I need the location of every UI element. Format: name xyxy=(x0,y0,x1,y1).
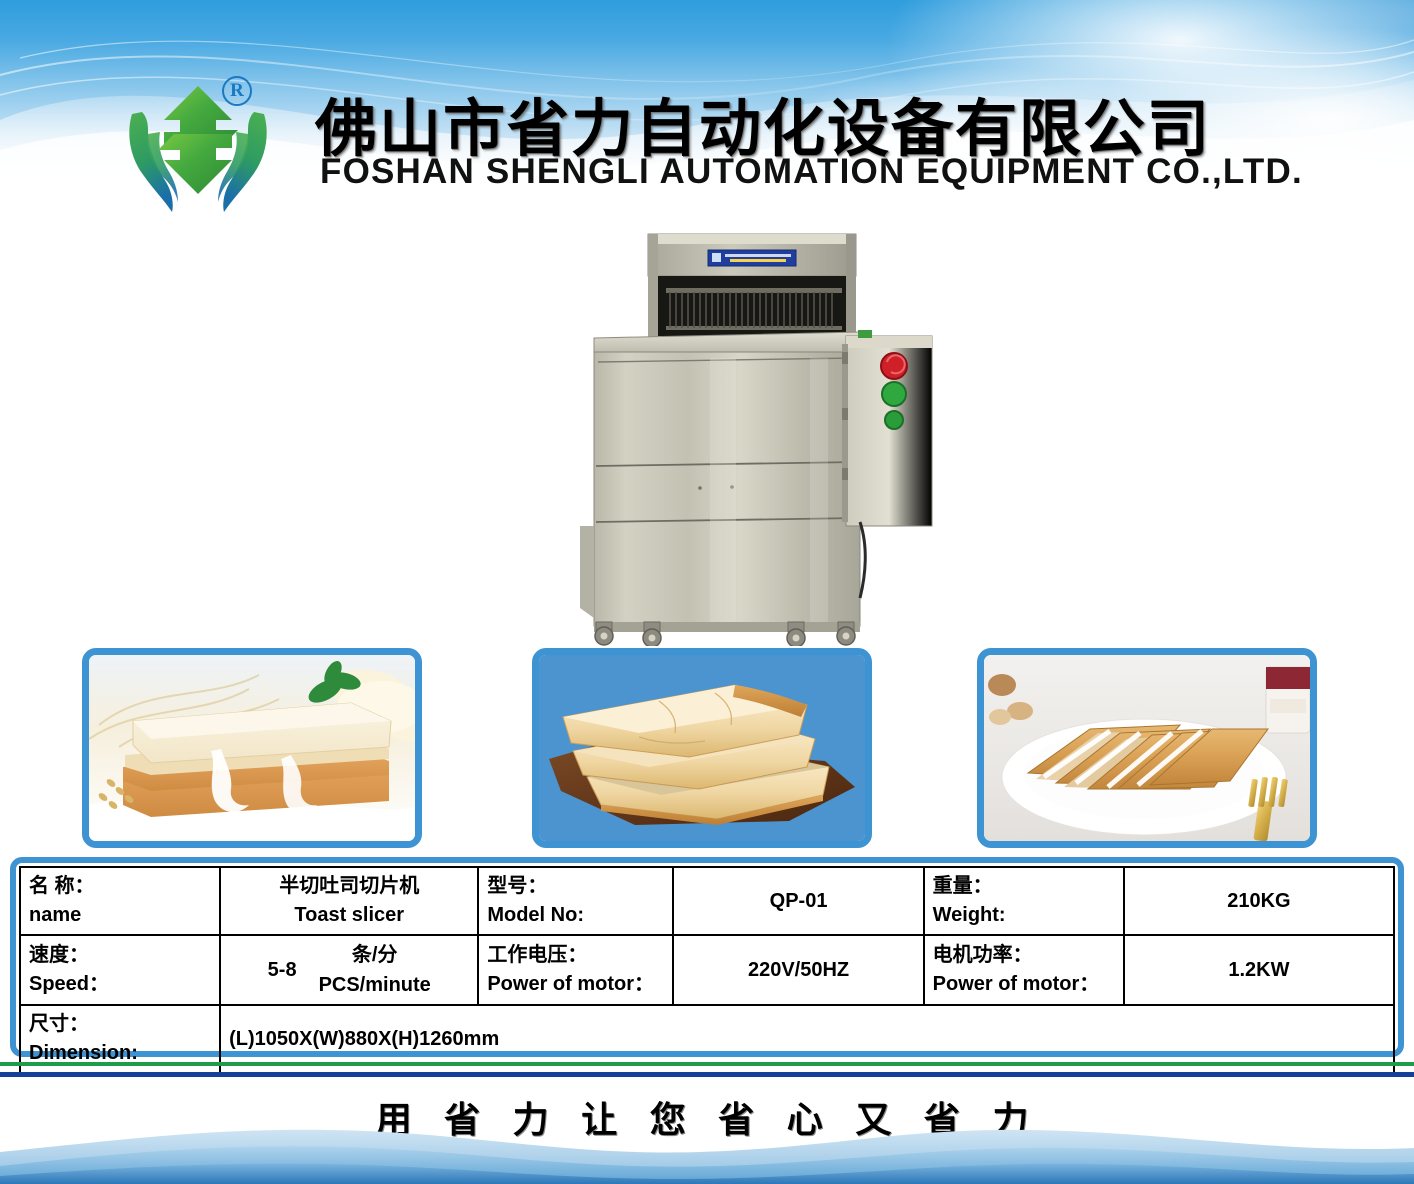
weight-label-cn: 重量： xyxy=(933,872,1115,901)
weight-label-en: Weight: xyxy=(933,901,1115,930)
registered-trademark-icon: R xyxy=(222,76,252,106)
cell-voltage-label: 工作电压： Power of motor： xyxy=(478,935,673,1005)
speed-unit-en: PCS/minute xyxy=(319,970,431,1000)
page-header: R 佛山市省力自动化设备有限公司 FOSHAN SHENGLI AUTOMATI… xyxy=(0,0,1414,222)
model-label-en: Model No: xyxy=(487,901,664,930)
product-machine-photo xyxy=(560,226,960,646)
cell-power-value: 1.2KW xyxy=(1124,935,1394,1005)
speed-unit-cn: 条/分 xyxy=(319,940,431,970)
product-gallery xyxy=(0,648,1414,848)
speed-number: 5-8 xyxy=(268,959,297,982)
footer-rule-green xyxy=(0,1062,1414,1066)
name-value-en: Toast slicer xyxy=(229,901,469,930)
table-row: 速度： Speed： 5-8 条/分 PCS/minute 工作电压： Powe… xyxy=(20,935,1394,1005)
emergency-stop-button xyxy=(881,353,907,379)
power-label-cn: 电机功率： xyxy=(933,941,1115,970)
specification-table: 名 称： name 半切吐司切片机 Toast slicer 型号： Model… xyxy=(10,857,1404,1057)
toast-stack-with-mint-image xyxy=(89,655,415,841)
cell-voltage-value: 220V/50HZ xyxy=(673,935,923,1005)
company-name-en: FOSHAN SHENGLI AUTOMATION EQUIPMENT CO.,… xyxy=(320,152,1303,192)
name-label-en: name xyxy=(29,901,211,930)
footer-wave-decoration xyxy=(0,1122,1414,1184)
start-button xyxy=(882,382,906,406)
voltage-label-cn: 工作电压： xyxy=(487,941,664,970)
dimension-label-cn: 尺寸： xyxy=(29,1010,211,1039)
power-label-en: Power of motor： xyxy=(933,970,1115,999)
cell-power-label: 电机功率： Power of motor： xyxy=(924,935,1124,1005)
cell-weight-label: 重量： Weight: xyxy=(924,867,1124,935)
model-label-cn: 型号： xyxy=(487,872,664,901)
gallery-photo-3 xyxy=(977,648,1317,848)
cell-model-value: QP-01 xyxy=(673,867,923,935)
cell-weight-value: 210KG xyxy=(1124,867,1394,935)
table-row: 名 称： name 半切吐司切片机 Toast slicer 型号： Model… xyxy=(20,867,1394,935)
name-value-cn: 半切吐司切片机 xyxy=(229,872,469,901)
gallery-photo-2 xyxy=(532,648,872,848)
page-footer: 用 省 力 让 您 省 心 又 省 力 xyxy=(0,1077,1414,1184)
toast-slicer-illustration xyxy=(560,226,960,646)
shengli-hands-s-logo xyxy=(118,72,278,222)
cell-name-label: 名 称： name xyxy=(20,867,220,935)
speed-label-en: Speed： xyxy=(29,970,211,999)
cell-name-value: 半切吐司切片机 Toast slicer xyxy=(220,867,478,935)
speed-label-cn: 速度： xyxy=(29,941,211,970)
cell-speed-value: 5-8 条/分 PCS/minute xyxy=(220,935,478,1005)
toast-on-board-image xyxy=(539,655,865,841)
name-label-cn: 名 称： xyxy=(29,872,211,901)
cell-model-label: 型号： Model No: xyxy=(478,867,673,935)
toast-on-plate-image xyxy=(984,655,1310,841)
voltage-label-en: Power of motor： xyxy=(487,970,664,999)
stop-button xyxy=(885,411,903,429)
cell-speed-label: 速度： Speed： xyxy=(20,935,220,1005)
gallery-photo-1 xyxy=(82,648,422,848)
